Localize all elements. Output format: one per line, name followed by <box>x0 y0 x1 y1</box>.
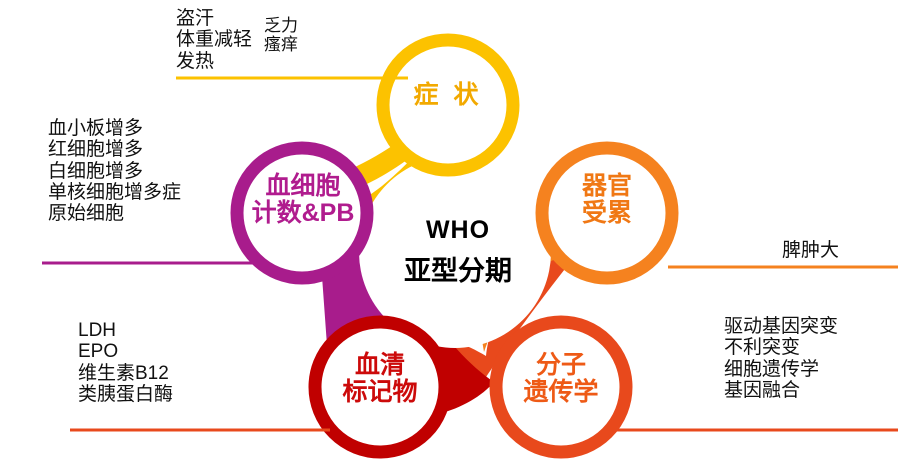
annotation-serum-markers-item-3: 维生素B12 <box>78 363 173 384</box>
petal-label-serum-line2: 标记物 <box>318 379 442 406</box>
petal-label-blood: 血细胞 计数&PB <box>233 173 373 227</box>
annotation-molecular-genetics-item-3: 细胞遗传学 <box>724 359 838 380</box>
petal-label-symptom-line1: 症 状 <box>383 82 513 109</box>
annotation-symptoms-column1: 盗汗 体重减轻 发热 <box>176 8 252 72</box>
annotation-serum-markers-item-1: LDH <box>78 320 173 341</box>
petal-label-organ-line2: 受累 <box>548 200 666 227</box>
petal-label-serum-line1: 血清 <box>318 352 442 379</box>
diagram-canvas: 症 状 血细胞 计数&PB 器官 受累 血清 标记物 分子 遗传学 WHO 亚型… <box>0 0 900 468</box>
annotation-symptoms-item-4: 乏力 <box>264 16 298 35</box>
annotation-blood-count-item-1: 血小板增多 <box>48 118 181 139</box>
annotation-blood-count-item-3: 白细胞增多 <box>48 161 181 182</box>
petal-label-blood-line1: 血细胞 <box>233 173 373 200</box>
petal-label-blood-line2: 计数&PB <box>233 200 373 227</box>
center-title: WHO 亚型分期 <box>378 216 538 288</box>
annotation-symptoms-item-2: 体重减轻 <box>176 29 252 50</box>
petal-label-organ: 器官 受累 <box>548 173 666 227</box>
annotation-molecular-genetics-item-4: 基因融合 <box>724 380 838 401</box>
annotation-blood-count-item-2: 红细胞增多 <box>48 139 181 160</box>
center-title-line1: WHO <box>378 216 538 245</box>
petal-label-symptom: 症 状 <box>383 82 513 109</box>
petal-label-serum: 血清 标记物 <box>318 352 442 406</box>
center-title-line2: 亚型分期 <box>378 249 538 288</box>
annotation-symptoms-item-3: 发热 <box>176 51 252 72</box>
annotation-serum-markers-list: LDH EPO 维生素B12 类胰蛋白酶 <box>78 320 173 405</box>
annotation-serum-markers-item-4: 类胰蛋白酶 <box>78 384 173 405</box>
annotation-symptoms-item-5: 瘙痒 <box>264 35 298 54</box>
annotation-blood-count-item-5: 原始细胞 <box>48 203 181 224</box>
annotation-organ-involvement-list: 脾肿大 <box>782 240 839 261</box>
annotation-molecular-genetics-item-1: 驱动基因突变 <box>724 316 838 337</box>
petal-label-molecular: 分子 遗传学 <box>496 352 626 406</box>
annotation-blood-count-list: 血小板增多 红细胞增多 白细胞增多 单核细胞增多症 原始细胞 <box>48 118 181 224</box>
annotation-blood-count-item-4: 单核细胞增多症 <box>48 182 181 203</box>
annotation-molecular-genetics-item-2: 不利突变 <box>724 337 838 358</box>
annotation-symptoms-item-1: 盗汗 <box>176 8 252 29</box>
annotation-symptoms-column2: 乏力 瘙痒 <box>264 16 298 54</box>
petal-label-molecular-line1: 分子 <box>496 352 626 379</box>
annotation-organ-involvement-item-1: 脾肿大 <box>782 240 839 261</box>
annotation-molecular-genetics-list: 驱动基因突变 不利突变 细胞遗传学 基因融合 <box>724 316 838 401</box>
petal-label-molecular-line2: 遗传学 <box>496 379 626 406</box>
annotation-serum-markers-item-2: EPO <box>78 341 173 362</box>
petal-label-organ-line1: 器官 <box>548 173 666 200</box>
